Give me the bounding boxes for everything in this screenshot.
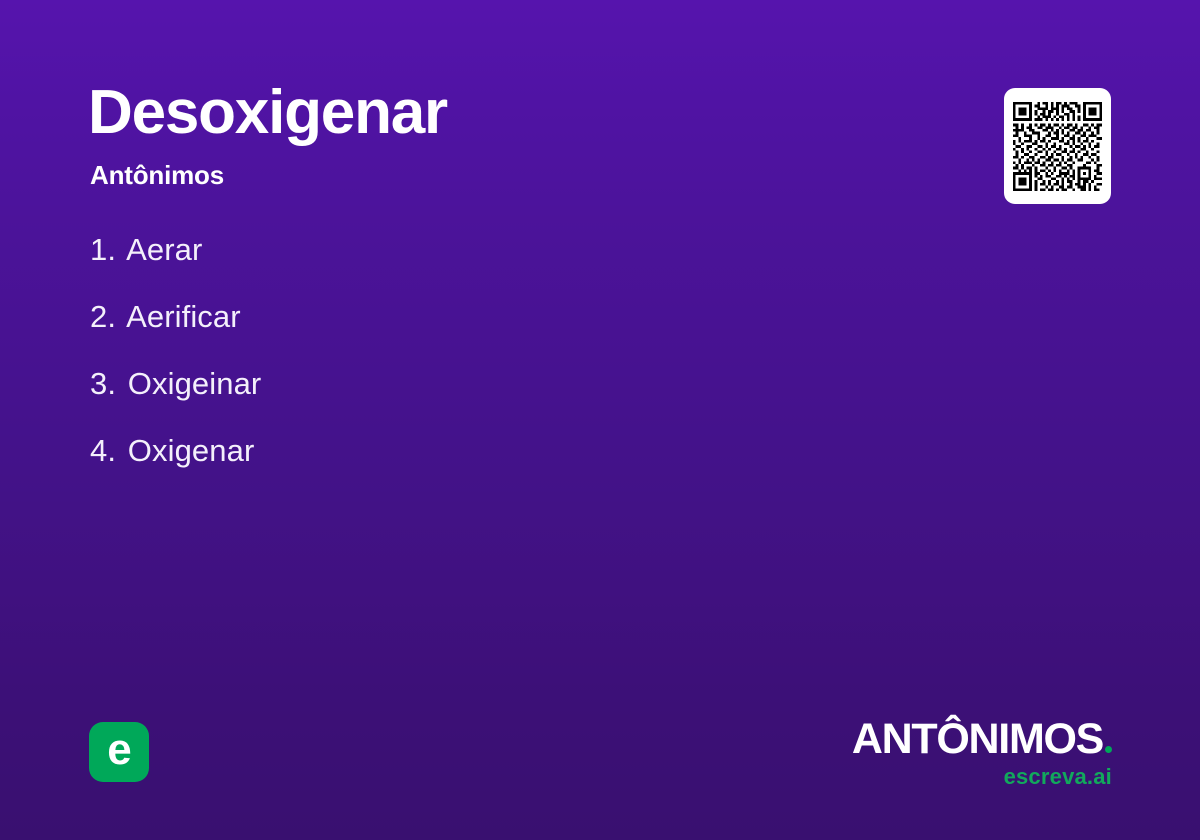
antonym-list: 1. Aerar 2. Aerificar 3. Oxigeinar 4. Ox… — [90, 234, 790, 466]
list-item: 3. Oxigeinar — [90, 368, 790, 399]
card-header: Desoxigenar Antônimos — [88, 82, 948, 191]
category-label: Antônimos — [90, 160, 948, 191]
list-item: 1. Aerar — [90, 234, 790, 265]
list-item: 2. Aerificar — [90, 301, 790, 332]
list-item: 4. Oxigenar — [90, 435, 790, 466]
wordmark-title: ANTÔNIMOS — [852, 718, 1112, 761]
brand-wordmark: ANTÔNIMOS escreva.ai — [852, 718, 1112, 788]
list-item-term: Oxigeinar — [128, 366, 262, 401]
wordmark-subtitle: escreva.ai — [852, 766, 1112, 788]
qr-code-icon — [1013, 102, 1102, 191]
wordmark-title-text: ANTÔNIMOS — [852, 715, 1103, 763]
page-title: Desoxigenar — [88, 82, 948, 144]
list-item-term: Aerificar — [126, 299, 241, 334]
list-item-index: 4. — [90, 433, 116, 468]
list-item-term: Aerar — [126, 232, 202, 267]
qr-code-container[interactable] — [1004, 88, 1111, 204]
wordmark-dot-icon — [1105, 746, 1112, 753]
list-item-term: Oxigenar — [128, 433, 255, 468]
escreva-logo-icon: e — [89, 722, 149, 782]
list-item-index: 2. — [90, 299, 116, 334]
brand-mark-letter: e — [107, 728, 130, 772]
list-item-index: 3. — [90, 366, 116, 401]
list-item-index: 1. — [90, 232, 116, 267]
antonym-card: Desoxigenar Antônimos — [0, 0, 1200, 840]
